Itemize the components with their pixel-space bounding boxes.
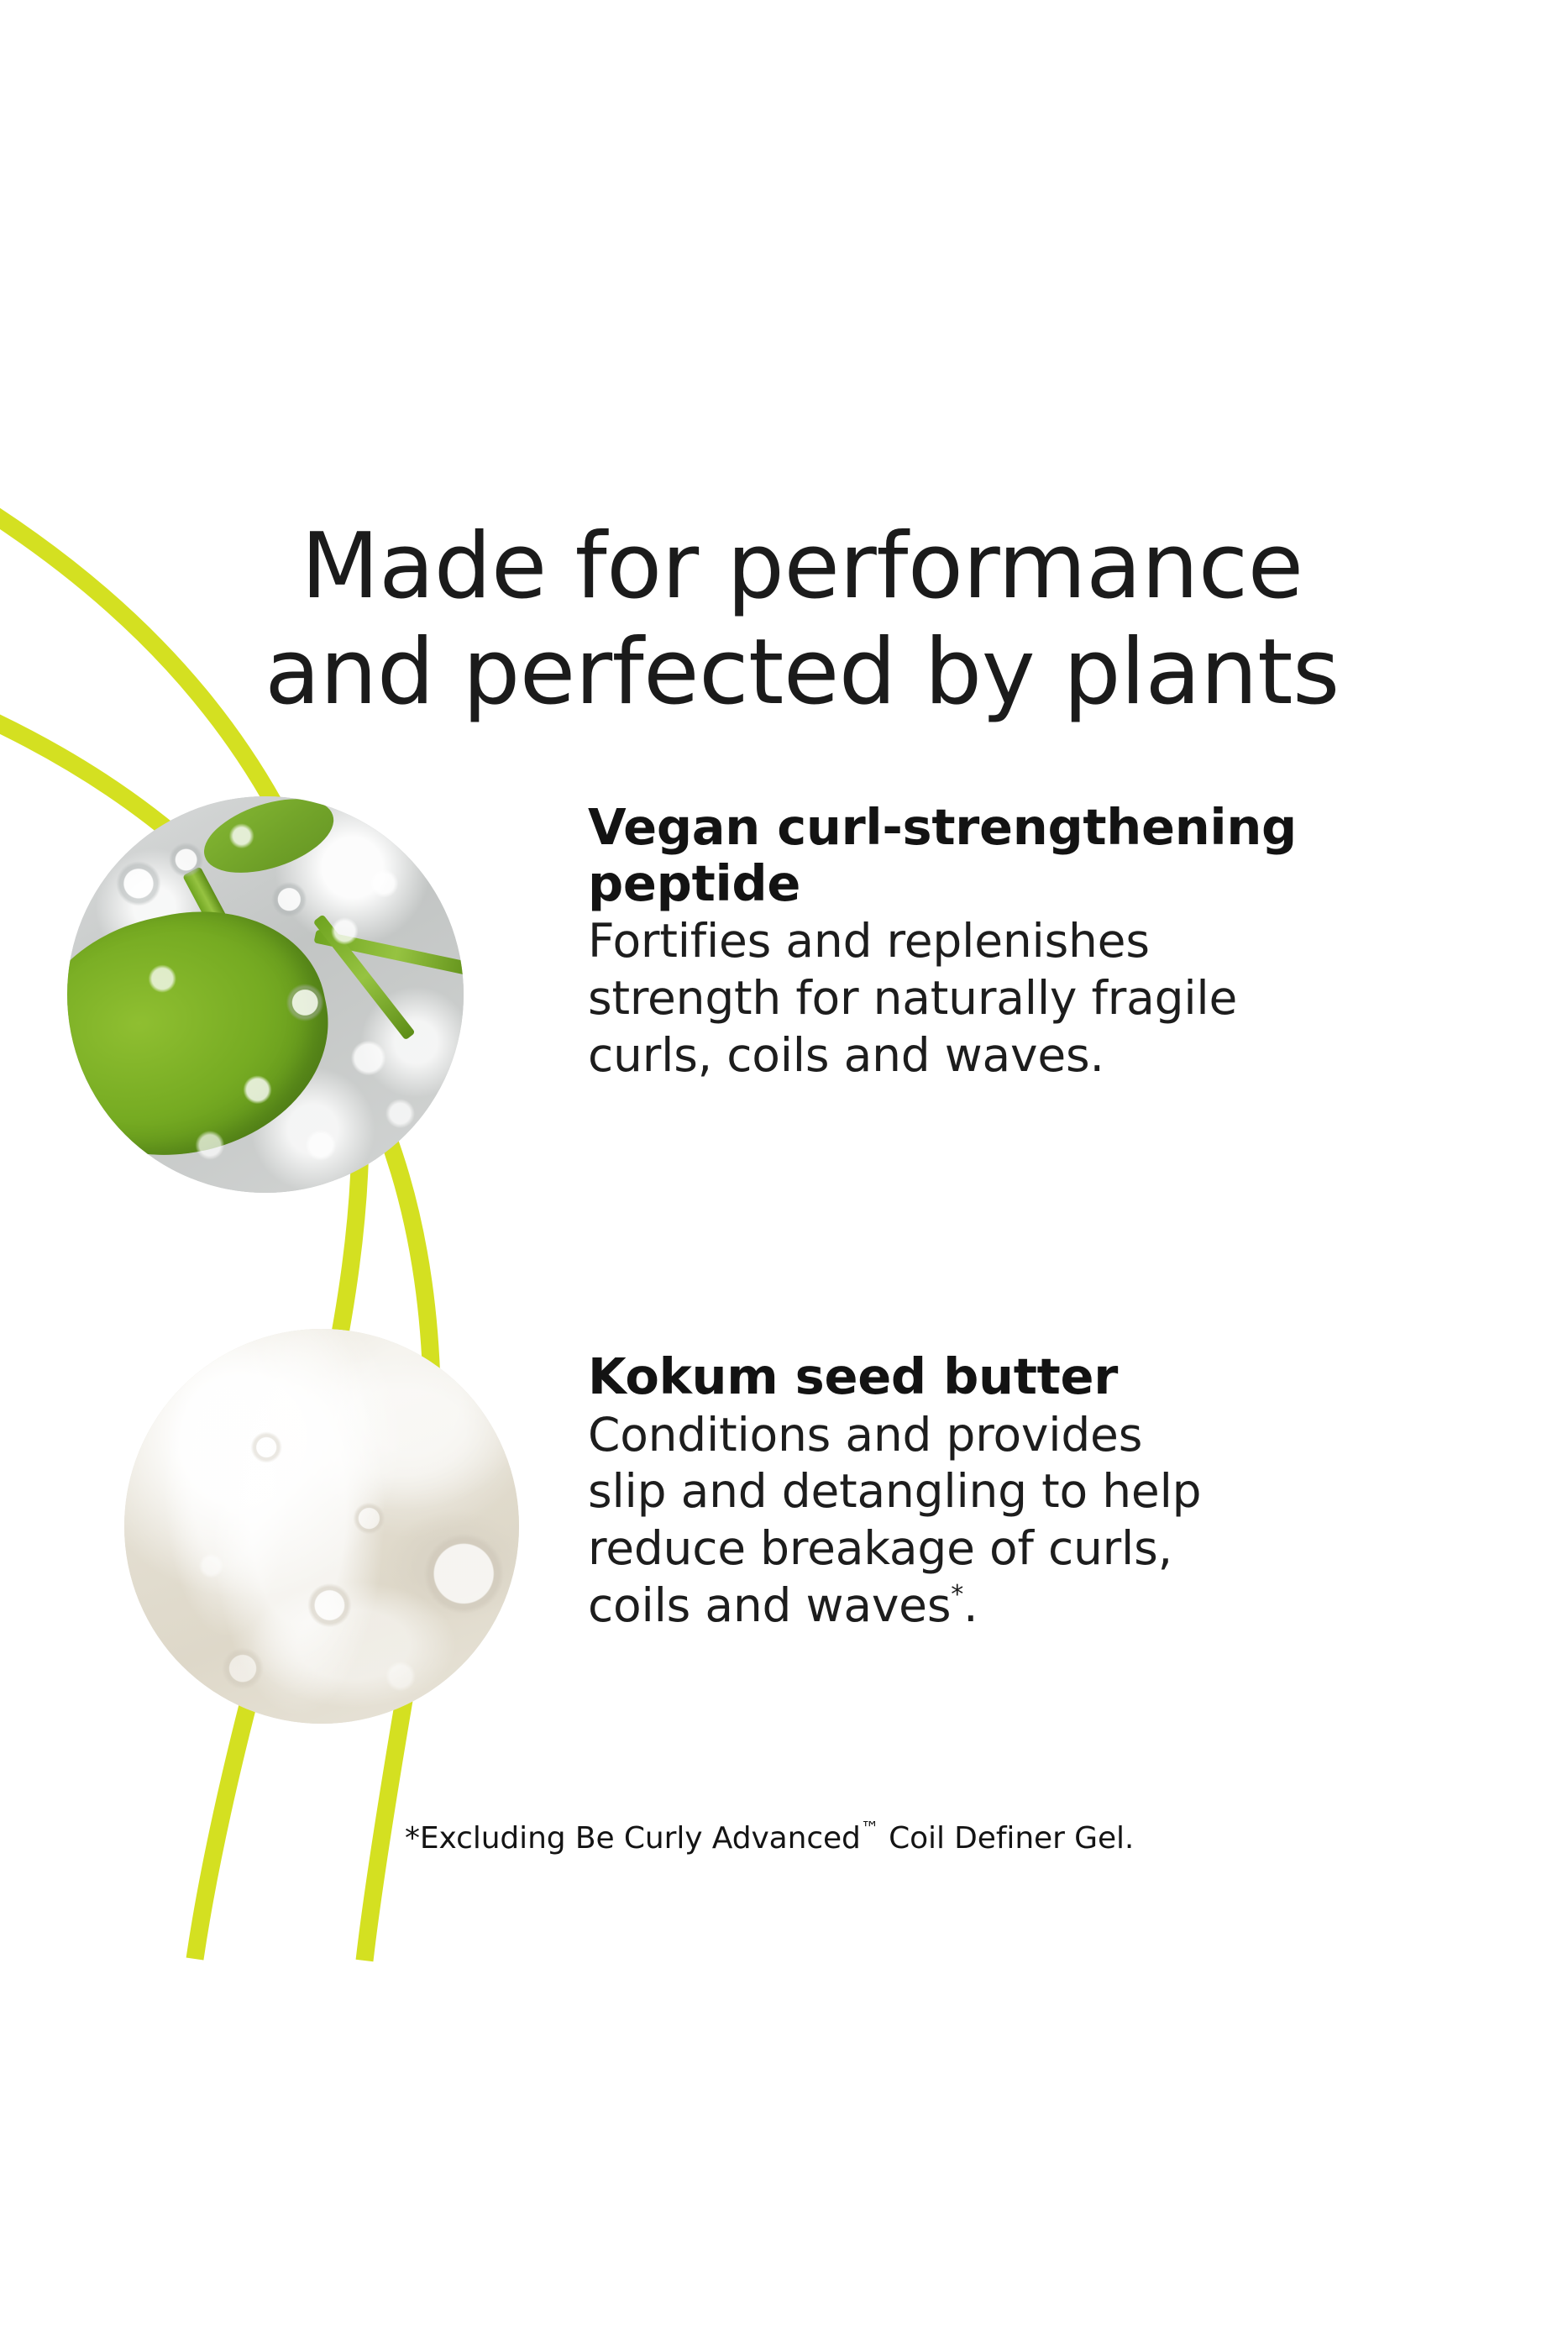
footnote-marker: * — [951, 1580, 963, 1609]
feature-description-kokum: Conditions and provides slip and detangl… — [588, 1407, 1344, 1635]
feature-desc-line-1: Conditions and provides — [588, 1407, 1344, 1464]
ingredient-image-kokum — [124, 1329, 519, 1724]
footnote-text-after: Coil Definer Gel. — [879, 1821, 1135, 1856]
feature-title-line-2: peptide — [588, 856, 1344, 912]
feature-desc-line-3: reduce breakage of curls, — [588, 1520, 1344, 1578]
ingredient-benefits-panel: Made for performance and perfected by pl… — [0, 0, 1568, 2352]
feature-desc-line-4: coils and waves*. — [588, 1578, 1344, 1635]
feature-title-kokum: Kokum seed butter — [588, 1349, 1344, 1405]
footnote-marker-star: * — [405, 1821, 420, 1856]
feature-title-peptide: Vegan curl-strengthening peptide — [588, 800, 1344, 911]
feature-title-line-1: Kokum seed butter — [588, 1349, 1344, 1405]
feature-desc-line-3: curls, coils and waves. — [588, 1027, 1344, 1084]
feature-description-peptide: Fortifies and replenishes strength for n… — [588, 913, 1344, 1084]
trademark-icon: ™ — [861, 1819, 879, 1840]
footnote: *Excluding Be Curly Advanced™ Coil Defin… — [405, 1821, 1134, 1856]
page-title: Made for performance and perfected by pl… — [143, 514, 1461, 725]
footnote-text-before: Excluding Be Curly Advanced — [420, 1821, 861, 1856]
feature-desc-line-2: slip and detangling to help — [588, 1463, 1344, 1520]
headline-line-2: and perfected by plants — [143, 620, 1461, 725]
feature-title-line-1: Vegan curl-strengthening — [588, 800, 1344, 856]
butter-bubble-overlay — [124, 1329, 519, 1724]
feature-desc-period: . — [963, 1578, 978, 1632]
feature-desc-line-1: Fortifies and replenishes — [588, 913, 1344, 970]
headline-line-1: Made for performance — [143, 514, 1461, 619]
feature-desc-line-4-text: coils and waves — [588, 1578, 951, 1632]
feature-block-kokum: Kokum seed butter Conditions and provide… — [588, 1349, 1344, 1634]
feature-desc-line-2: strength for naturally fragile — [588, 970, 1344, 1027]
feature-block-peptide: Vegan curl-strengthening peptide Fortifi… — [588, 800, 1344, 1084]
ingredient-image-peptide — [67, 796, 464, 1193]
bubble-overlay — [67, 796, 464, 1193]
